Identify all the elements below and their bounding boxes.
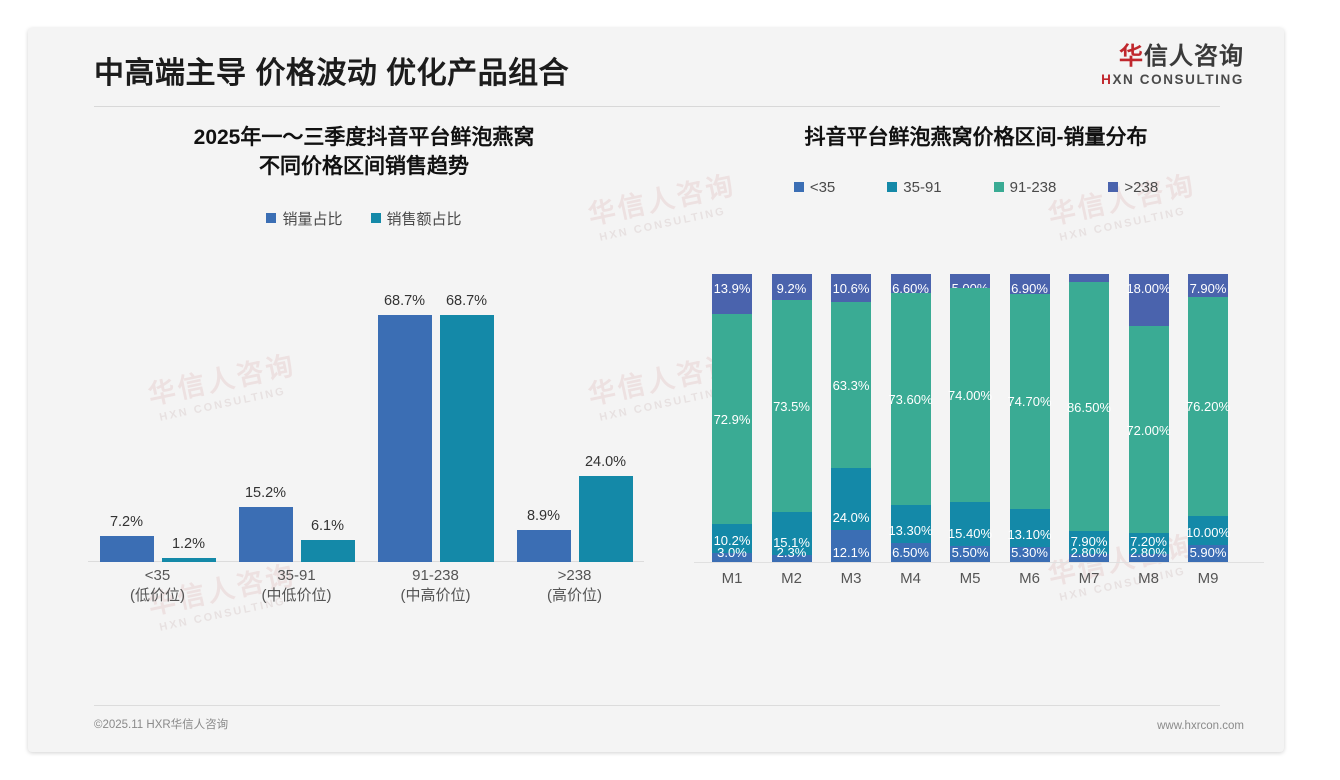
bar-volume-1[interactable]: 15.2%	[239, 507, 293, 562]
x-tick-label-m5: M5	[950, 570, 990, 587]
logo-chinese-rest: 信人咨询	[1144, 43, 1244, 70]
x-tick-label-2: 91-238 (中高价位)	[366, 566, 505, 607]
stacked-bar-m8[interactable]: 18.00%72.00%7.20%2.80%	[1129, 274, 1169, 562]
stack-segment[interactable]: 3.0%	[712, 553, 752, 562]
stack-value-label: 72.9%	[714, 413, 751, 426]
stack-value-label: 74.70%	[1007, 395, 1051, 408]
left-chart-title: 2025年一～三季度抖音平台鲜泡燕窝 不同价格区间销售趋势	[64, 124, 664, 182]
stack-segment[interactable]: 13.10%	[1010, 509, 1050, 547]
company-logo: 华信人咨询 HXN CONSULTING	[1101, 44, 1244, 87]
x-tick-label-m8: M8	[1129, 570, 1169, 587]
x-tick-label-m9: M9	[1188, 570, 1228, 587]
footer-divider	[94, 705, 1220, 706]
stack-value-label: 15.40%	[948, 527, 992, 540]
x-tick-sublabel: (中高价位)	[366, 586, 505, 606]
bar-amount-0[interactable]: 1.2%	[162, 558, 216, 562]
stack-value-label: 24.0%	[833, 511, 870, 524]
left-chart-panel: 2025年一～三季度抖音平台鲜泡燕窝 不同价格区间销售趋势 销量占比 销售额占比…	[64, 124, 664, 684]
bar-value-label: 68.7%	[446, 293, 487, 309]
slide-header: 中高端主导 价格波动 优化产品组合 华信人咨询 HXN CONSULTING	[28, 28, 1284, 104]
stack-value-label: 73.60%	[888, 393, 932, 406]
legend-swatch-sales-volume	[266, 213, 276, 223]
x-tick-sublabel: (高价位)	[505, 586, 644, 606]
logo-english-text: HXN CONSULTING	[1101, 72, 1244, 87]
bar-group: 15.2% 6.1%	[227, 274, 366, 562]
stack-segment[interactable]: 74.00%	[950, 288, 990, 501]
bar-amount-3[interactable]: 24.0%	[579, 476, 633, 562]
legend-swatch-sales-amount	[371, 213, 381, 223]
legend-item-91-238[interactable]: 91-238	[994, 179, 1057, 196]
bar-value-label: 24.0%	[585, 454, 626, 470]
stack-value-label: 10.00%	[1186, 526, 1230, 539]
stack-segment[interactable]: 5.50%	[950, 546, 990, 562]
bar-value-label: 68.7%	[384, 293, 425, 309]
stack-segment[interactable]: 6.90%	[1010, 274, 1050, 294]
right-stacked-chart: 13.9%72.9%10.2%3.0%M19.2%73.5%15.1%2.3%M…	[694, 274, 1264, 604]
legend-item-lt35[interactable]: <35	[794, 179, 835, 196]
bar-group: 7.2% 1.2%	[88, 274, 227, 562]
stack-segment[interactable]: 76.20%	[1188, 297, 1228, 516]
footer-copyright: ©2025.11 HXR华信人咨询	[94, 716, 228, 732]
legend-swatch-gt238	[1108, 182, 1118, 192]
legend-swatch-91-238	[994, 182, 1004, 192]
bar-group: 68.7% 68.7%	[366, 274, 505, 562]
stack-value-label: 5.30%	[1011, 546, 1048, 559]
stack-value-label: 2.3%	[777, 546, 807, 559]
stack-segment[interactable]: 5.00%	[950, 274, 990, 288]
legend-label-sales-amount: 销售额占比	[387, 208, 462, 229]
stack-value-label: 72.00%	[1126, 424, 1170, 437]
stack-value-label: 76.20%	[1186, 400, 1230, 413]
stack-segment[interactable]: 6.50%	[891, 543, 931, 562]
stack-segment[interactable]: 24.0%	[831, 468, 871, 531]
header-divider	[94, 106, 1220, 107]
right-chart-legend: <35 35-91 91-238 >238	[676, 179, 1276, 196]
bar-value-label: 7.2%	[110, 514, 143, 530]
bar-volume-3[interactable]: 8.9%	[517, 530, 571, 562]
x-tick-label-m3: M3	[831, 570, 871, 587]
legend-label-35-91: 35-91	[903, 179, 941, 196]
x-tick-sublabel: (低价位)	[88, 586, 227, 606]
footer-website: www.hxrcon.com	[1157, 720, 1244, 732]
left-chart-title-line1: 2025年一～三季度抖音平台鲜泡燕窝	[84, 124, 644, 153]
legend-item-sales-volume[interactable]: 销量占比	[266, 208, 342, 229]
legend-label-lt35: <35	[810, 179, 835, 196]
stacked-bar-m3[interactable]: 10.6%63.3%24.0%12.1%	[831, 274, 871, 562]
x-tick-band: 91-238	[366, 566, 505, 586]
x-tick-band: >238	[505, 566, 644, 586]
left-chart-legend: 销量占比 销售额占比	[64, 208, 664, 229]
stack-value-label: 86.50%	[1067, 401, 1111, 414]
stack-value-label: 6.50%	[892, 546, 929, 559]
stack-segment[interactable]: 72.00%	[1129, 326, 1169, 533]
logo-chinese-text: 华信人咨询	[1101, 44, 1244, 70]
x-tick-band: 35-91	[227, 566, 366, 586]
legend-label-gt238: >238	[1124, 179, 1158, 196]
page-title: 中高端主导 价格波动 优化产品组合	[94, 48, 569, 92]
legend-swatch-35-91	[887, 182, 897, 192]
stack-segment[interactable]: 7.90%	[1188, 274, 1228, 297]
stacked-bar-m5[interactable]: 5.00%74.00%15.40%5.50%	[950, 274, 990, 562]
legend-item-gt238[interactable]: >238	[1108, 179, 1158, 196]
logo-char-hua: 华	[1119, 43, 1144, 70]
stack-segment[interactable]: 10.6%	[831, 274, 871, 302]
x-tick-band: <35	[88, 566, 227, 586]
stack-value-label: 13.30%	[888, 524, 932, 537]
stack-segment[interactable]: 2.80%	[1069, 274, 1109, 282]
stack-segment[interactable]: 10.00%	[1188, 516, 1228, 545]
left-chart-title-line2: 不同价格区间销售趋势	[84, 153, 644, 182]
bar-amount-1[interactable]: 6.1%	[301, 540, 355, 562]
legend-label-91-238: 91-238	[1010, 179, 1057, 196]
x-tick-label-1: 35-91 (中低价位)	[227, 566, 366, 607]
stack-segment[interactable]: 18.00%	[1129, 274, 1169, 326]
x-tick-label-m6: M6	[1010, 570, 1050, 587]
stack-value-label: 74.00%	[948, 389, 992, 402]
legend-item-35-91[interactable]: 35-91	[887, 179, 941, 196]
stack-value-label: 3.0%	[717, 546, 747, 559]
bar-volume-2[interactable]: 68.7%	[378, 315, 432, 562]
legend-swatch-lt35	[794, 182, 804, 192]
stacked-bar-m4[interactable]: 6.60%73.60%13.30%6.50%	[891, 274, 931, 562]
stack-value-label: 2.80%	[1071, 546, 1108, 559]
stack-segment[interactable]: 2.3%	[772, 555, 812, 562]
stack-value-label: 63.3%	[833, 379, 870, 392]
stack-value-label: 10.6%	[833, 282, 870, 295]
x-tick-label-3: >238 (高价位)	[505, 566, 644, 607]
stack-segment[interactable]: 5.30%	[1010, 547, 1050, 562]
stack-segment[interactable]: 13.9%	[712, 274, 752, 314]
left-bar-chart: 7.2% 1.2% 15.2% 6.1%	[88, 274, 644, 604]
stack-value-label: 7.90%	[1190, 282, 1227, 295]
stack-segment[interactable]: 6.60%	[891, 274, 931, 293]
x-tick-sublabel: (中低价位)	[227, 586, 366, 606]
right-chart-title: 抖音平台鲜泡燕窝价格区间-销量分布	[676, 124, 1276, 153]
stack-segment[interactable]: 2.80%	[1129, 554, 1169, 562]
bar-volume-0[interactable]: 7.2%	[100, 536, 154, 562]
bar-value-label: 8.9%	[527, 508, 560, 524]
stack-value-label: 18.00%	[1126, 282, 1170, 295]
x-tick-label-0: <35 (低价位)	[88, 566, 227, 607]
right-chart-x-axis	[694, 562, 1264, 563]
stack-segment[interactable]: 2.80%	[1069, 554, 1109, 562]
stack-segment[interactable]: 86.50%	[1069, 282, 1109, 531]
slide-canvas: 中高端主导 价格波动 优化产品组合 华信人咨询 HXN CONSULTING 华…	[28, 28, 1284, 752]
stack-value-label: 9.2%	[777, 282, 807, 295]
stacked-bar-m1[interactable]: 13.9%72.9%10.2%3.0%	[712, 274, 752, 562]
stack-value-label: 2.80%	[1130, 546, 1167, 559]
stack-segment[interactable]: 15.40%	[950, 502, 990, 546]
stack-segment[interactable]: 5.90%	[1188, 545, 1228, 562]
stacked-bar-m2[interactable]: 9.2%73.5%15.1%2.3%	[772, 274, 812, 562]
bar-value-label: 15.2%	[245, 485, 286, 501]
stack-value-label: 73.5%	[773, 400, 810, 413]
bar-group: 8.9% 24.0%	[505, 274, 644, 562]
x-tick-label-m1: M1	[712, 570, 752, 587]
legend-label-sales-volume: 销量占比	[282, 208, 342, 229]
bar-amount-2[interactable]: 68.7%	[440, 315, 494, 562]
stack-segment[interactable]: 72.9%	[712, 314, 752, 524]
bar-value-label: 1.2%	[172, 536, 205, 552]
logo-letter-h: H	[1101, 72, 1112, 87]
stacked-bar-m6[interactable]: 6.90%74.70%13.10%5.30%	[1010, 274, 1050, 562]
stacked-bar-m7[interactable]: 2.80%86.50%7.90%2.80%	[1069, 274, 1109, 562]
logo-english-rest: XN CONSULTING	[1112, 72, 1244, 87]
x-tick-label-m2: M2	[772, 570, 812, 587]
stack-value-label: 5.50%	[952, 546, 989, 559]
x-tick-label-m7: M7	[1069, 570, 1109, 587]
stacked-bar-m9[interactable]: 7.90%76.20%10.00%5.90%	[1188, 274, 1228, 562]
stack-segment[interactable]: 12.1%	[831, 530, 871, 562]
stack-segment[interactable]: 74.70%	[1010, 294, 1050, 509]
stack-segment[interactable]: 63.3%	[831, 302, 871, 468]
bar-value-label: 6.1%	[311, 518, 344, 534]
x-tick-label-m4: M4	[891, 570, 931, 587]
right-chart-panel: 抖音平台鲜泡燕窝价格区间-销量分布 <35 35-91 91-238 >238 …	[676, 124, 1276, 684]
stack-segment[interactable]: 73.60%	[891, 293, 931, 505]
stack-segment[interactable]: 9.2%	[772, 274, 812, 300]
stack-value-label: 12.1%	[833, 546, 870, 559]
stack-segment[interactable]: 73.5%	[772, 300, 812, 511]
stack-value-label: 5.90%	[1190, 546, 1227, 559]
stack-value-label: 13.10%	[1007, 528, 1051, 541]
stack-value-label: 13.9%	[714, 282, 751, 295]
stack-segment[interactable]: 13.30%	[891, 505, 931, 543]
legend-item-sales-amount[interactable]: 销售额占比	[371, 208, 462, 229]
